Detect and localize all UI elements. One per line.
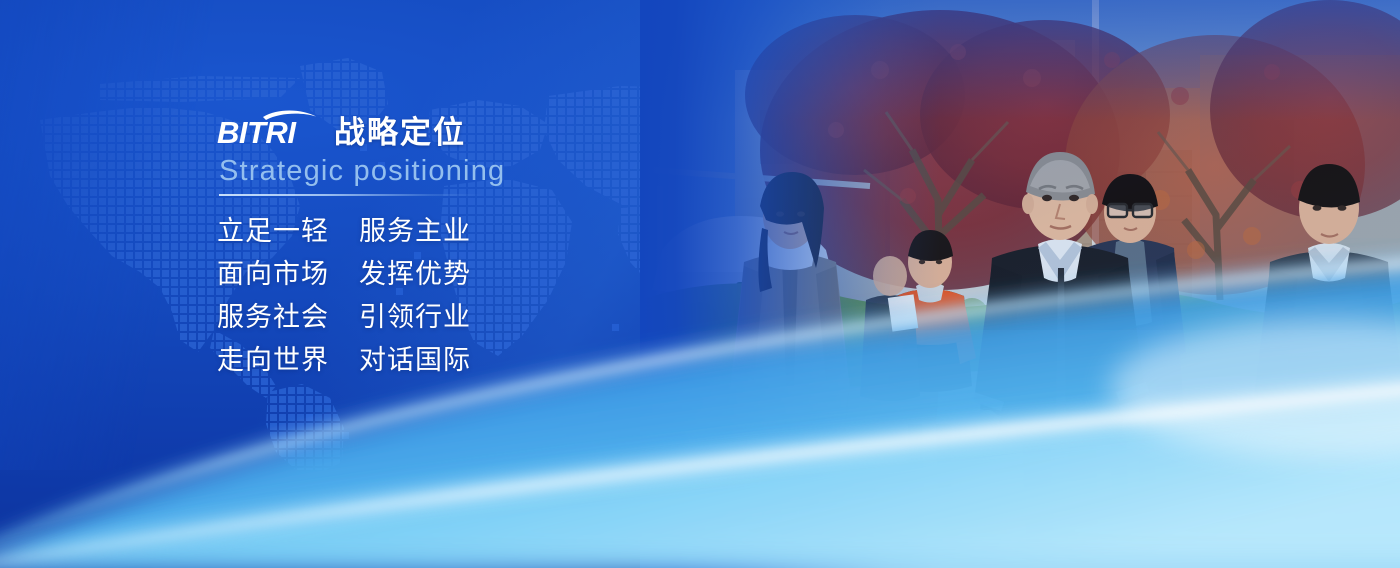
slogan-left: 走向世界 [217, 347, 359, 374]
slogan-line: 面向市场 发挥优势 [217, 261, 637, 288]
team-walking-photo [640, 0, 1400, 568]
slogan-list: 立足一轻 服务主业 面向市场 发挥优势 服务社会 引领行业 走向世界 对话国际 [217, 218, 637, 374]
slogan-left: 服务社会 [217, 304, 359, 331]
banner-content: BITRI BITRI 战略定位 Strategic positioning 立… [217, 105, 637, 374]
title-divider [219, 194, 484, 196]
brand-title-cn: 战略定位 [334, 117, 466, 151]
strategic-positioning-banner: BITRI BITRI 战略定位 Strategic positioning 立… [0, 0, 1400, 568]
brand-lockup: BITRI BITRI 战略定位 [217, 105, 637, 151]
slogan-right: 对话国际 [359, 347, 471, 374]
slogan-right: 服务主业 [359, 218, 471, 245]
slogan-left: 立足一轻 [217, 218, 359, 245]
slogan-left: 面向市场 [217, 261, 359, 288]
brand-title-en: Strategic positioning [219, 155, 637, 188]
slogan-right: 发挥优势 [359, 261, 471, 288]
svg-text:BITRI: BITRI [217, 115, 297, 150]
slogan-line: 立足一轻 服务主业 [217, 218, 637, 245]
slogan-right: 引领行业 [359, 304, 471, 331]
slogan-line: 服务社会 引领行业 [217, 304, 637, 331]
slogan-line: 走向世界 对话国际 [217, 347, 637, 374]
bitri-logo: BITRI BITRI [217, 107, 325, 151]
